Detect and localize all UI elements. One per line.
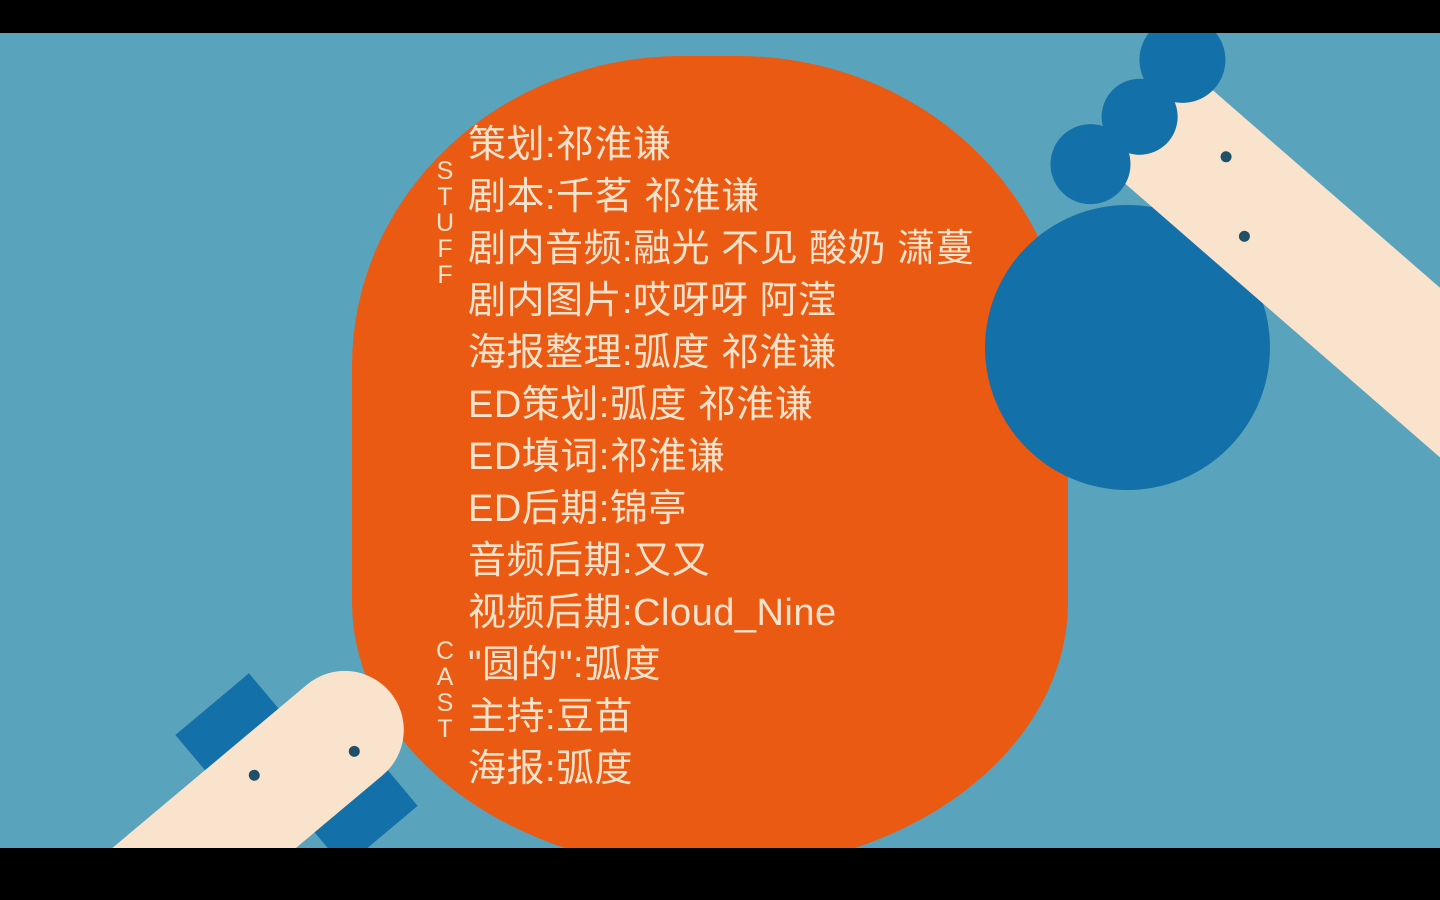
section-label-stuff: S T U F F	[430, 158, 460, 288]
section-letter: U	[430, 210, 460, 236]
section-letter: S	[430, 158, 460, 184]
credit-line: 视频后期:Cloud_Nine	[468, 587, 1168, 639]
video-canvas: S T U F F C A S T 策划:祁淮谦 剧本:千茗 祁淮谦 剧内音频:…	[0, 33, 1440, 848]
letterbox-bottom	[0, 848, 1440, 900]
credit-line: 策划:祁淮谦	[468, 119, 1168, 171]
credit-line: 海报:弧度	[468, 743, 1168, 795]
credit-line: 海报整理:弧度 祁淮谦	[468, 327, 1168, 379]
section-letter: F	[430, 262, 460, 288]
credit-line: ED后期:锦亭	[468, 483, 1168, 535]
letterbox-top	[0, 0, 1440, 33]
section-letter: T	[430, 184, 460, 210]
credit-line: 音频后期:又又	[468, 535, 1168, 587]
section-letter: T	[430, 716, 460, 742]
credit-line: "圆的":弧度	[468, 639, 1168, 691]
section-label-cast: C A S T	[430, 638, 460, 742]
credit-line: 剧内图片:哎呀呀 阿滢	[468, 275, 1168, 327]
credit-line-list: 策划:祁淮谦 剧本:千茗 祁淮谦 剧内音频:融光 不见 酸奶 潇蔓 剧内图片:哎…	[468, 119, 1168, 795]
section-letter: S	[430, 690, 460, 716]
credit-line: ED策划:弧度 祁淮谦	[468, 379, 1168, 431]
credit-line: ED填词:祁淮谦	[468, 431, 1168, 483]
section-letter: F	[430, 236, 460, 262]
video-frame: S T U F F C A S T 策划:祁淮谦 剧本:千茗 祁淮谦 剧内音频:…	[0, 0, 1440, 900]
credits-overlay: S T U F F C A S T 策划:祁淮谦 剧本:千茗 祁淮谦 剧内音频:…	[0, 33, 1440, 848]
section-letter: A	[430, 664, 460, 690]
credit-line: 剧内音频:融光 不见 酸奶 潇蔓	[468, 223, 1168, 275]
credit-line: 主持:豆苗	[468, 691, 1168, 743]
credit-line: 剧本:千茗 祁淮谦	[468, 171, 1168, 223]
section-letter: C	[430, 638, 460, 664]
